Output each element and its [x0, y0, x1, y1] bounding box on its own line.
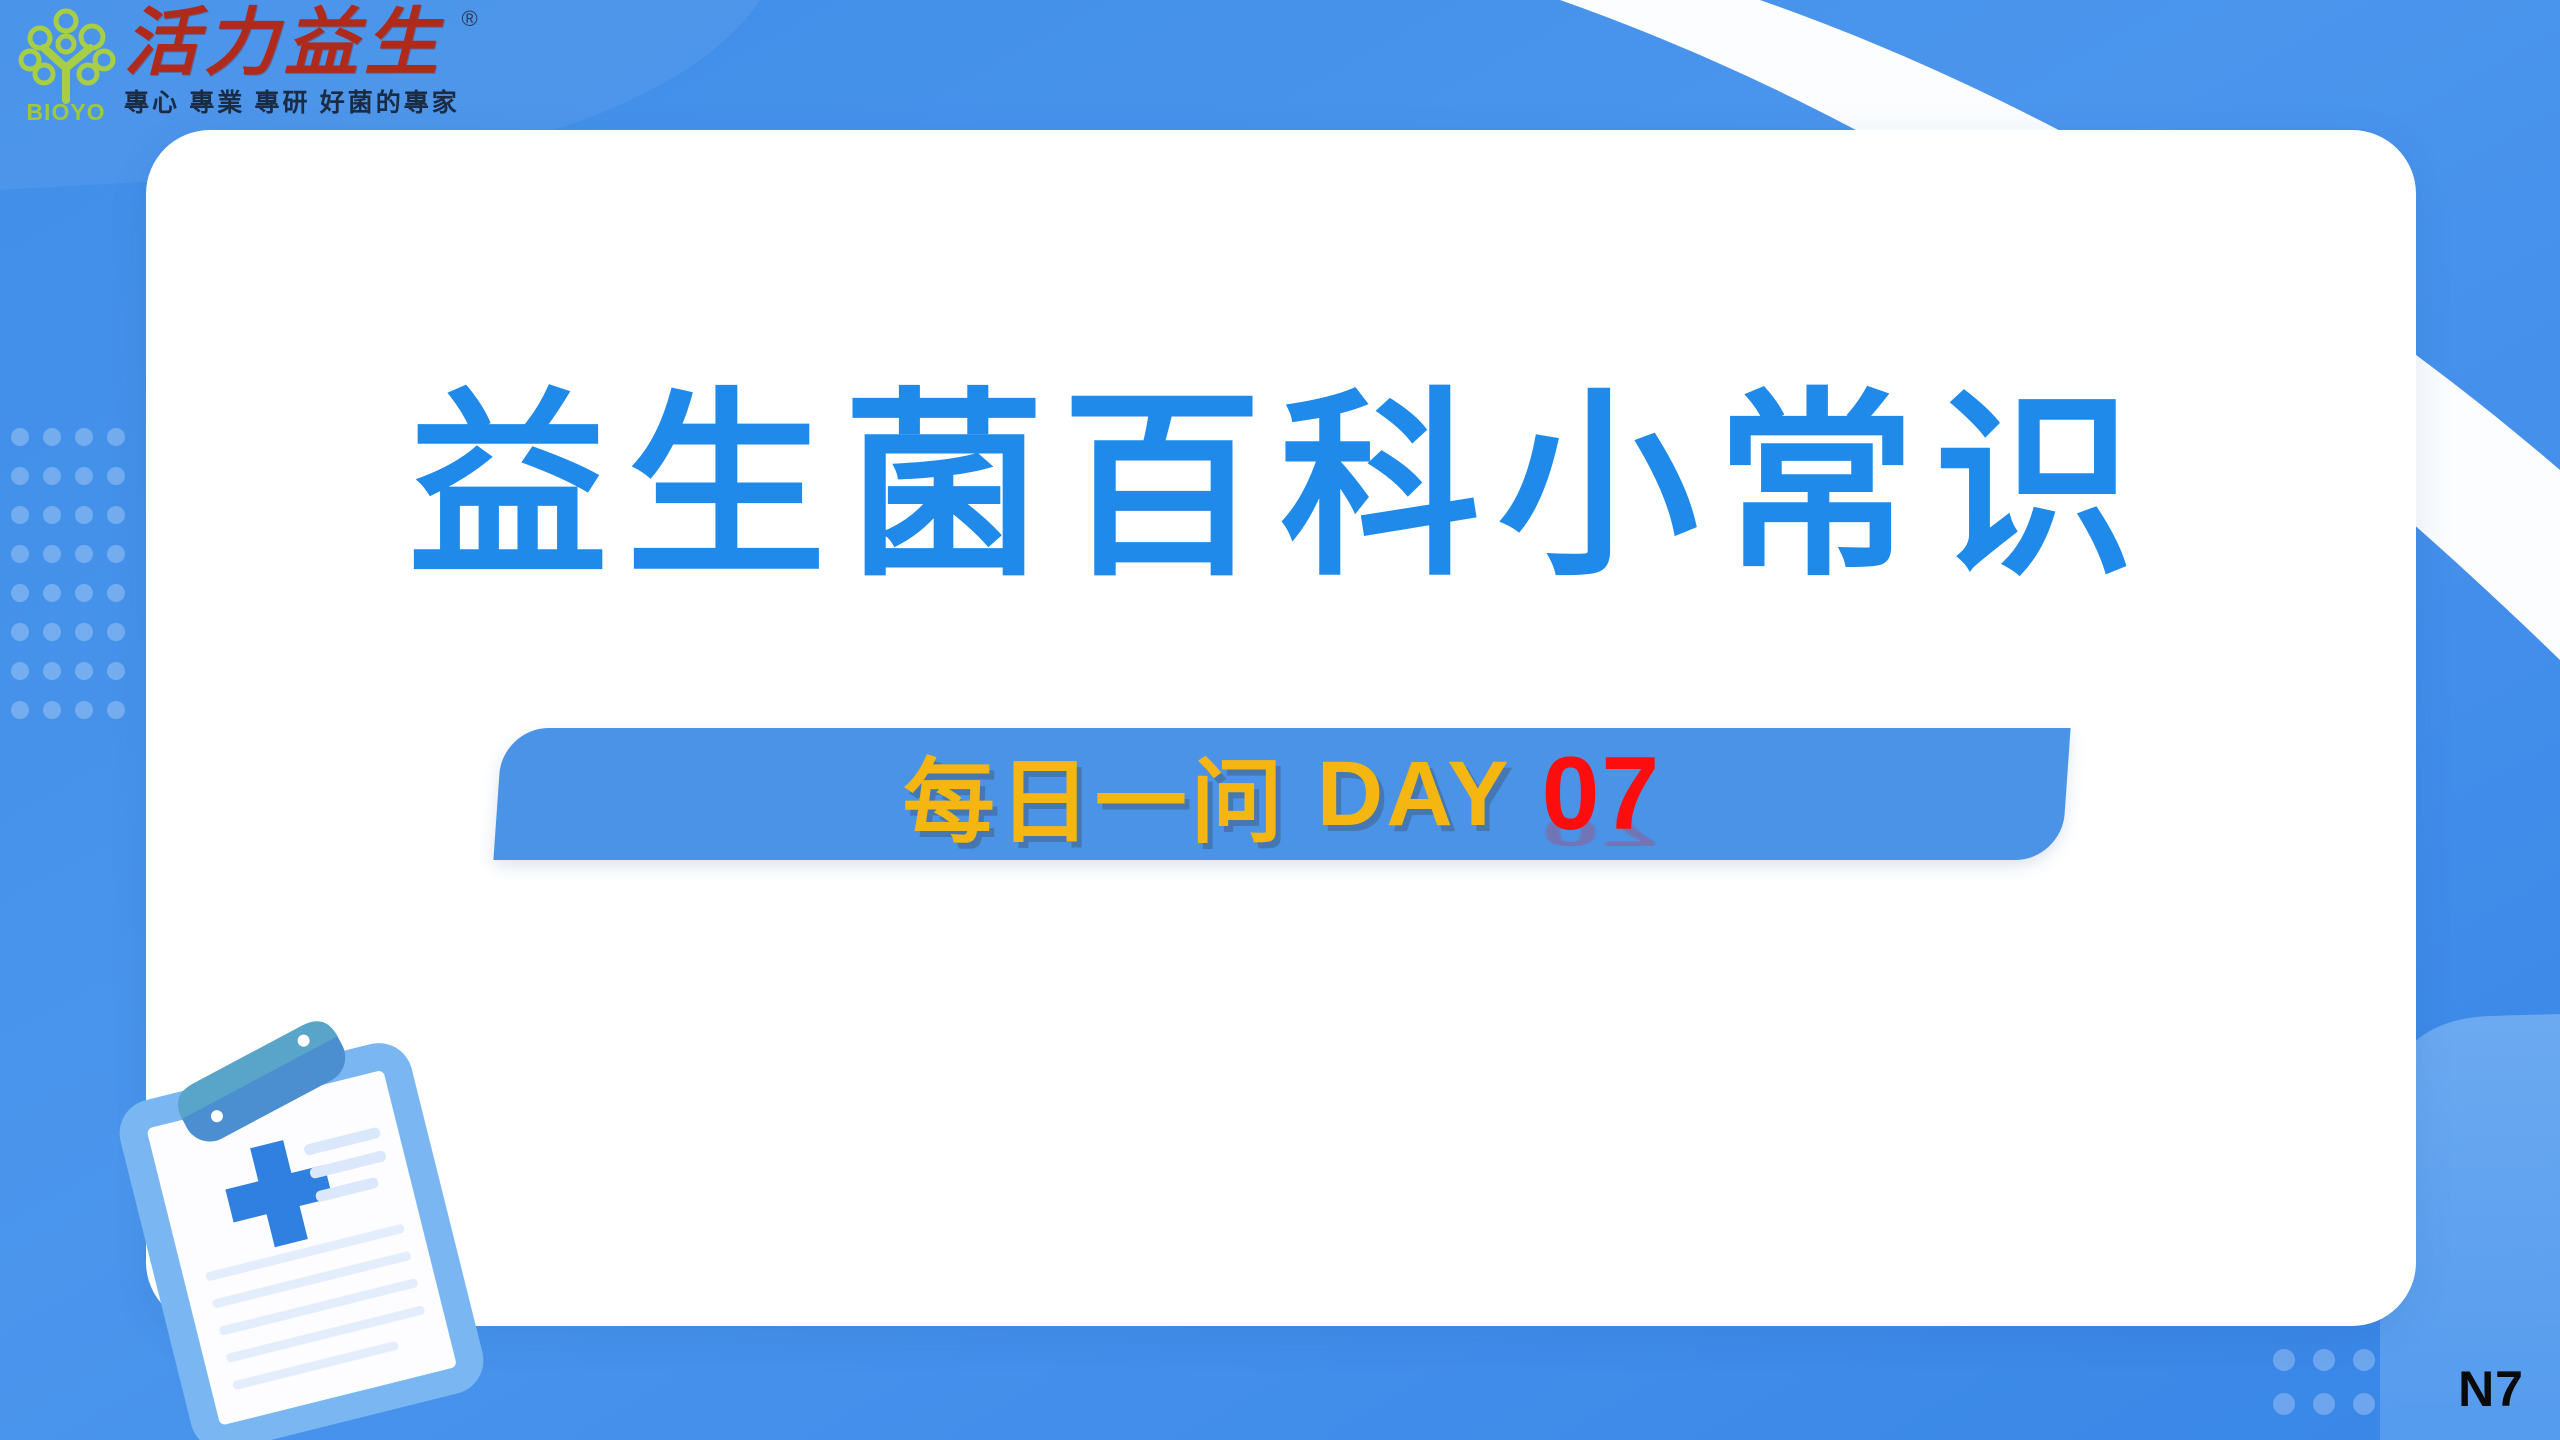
brand-wordmark: 活力益生 ® 專心 專業 專研 好菌的專家 — [124, 4, 460, 119]
slide-canvas: BIOYO 活力益生 ® 專心 專業 專研 好菌的專家 益生菌百科小常识 每日一… — [0, 0, 2560, 1440]
slide-number-tag: N7 — [2458, 1360, 2524, 1418]
subtitle-day-number: 07 — [1542, 735, 1662, 854]
subtitle-text-group: 每日一问 DAY 07 — [498, 728, 2066, 860]
registered-trademark-icon: ® — [462, 6, 478, 32]
brand-logo: BIOYO 活力益生 ® 專心 專業 專研 好菌的專家 — [14, 4, 460, 132]
dot-grid-bottom-right — [2264, 1338, 2384, 1426]
subtitle-label-day: DAY — [1317, 742, 1512, 847]
medical-clipboard-icon — [92, 1008, 512, 1440]
subtitle-banner: 每日一问 DAY 07 — [498, 728, 2066, 860]
brand-tagline: 專心 專業 專研 好菌的專家 — [124, 83, 460, 119]
brand-name-cn: 活力益生 — [124, 8, 460, 81]
page-title: 益生菌百科小常识 — [0, 378, 2560, 598]
subtitle-label-cn: 每日一问 — [903, 728, 1287, 861]
tree-bubbles-icon — [14, 4, 118, 104]
logo-mark-text: BIOYO — [14, 99, 118, 126]
clipboard-graphic — [92, 1008, 512, 1440]
bioyo-probiotic-tree-logo-icon: BIOYO — [14, 4, 118, 128]
